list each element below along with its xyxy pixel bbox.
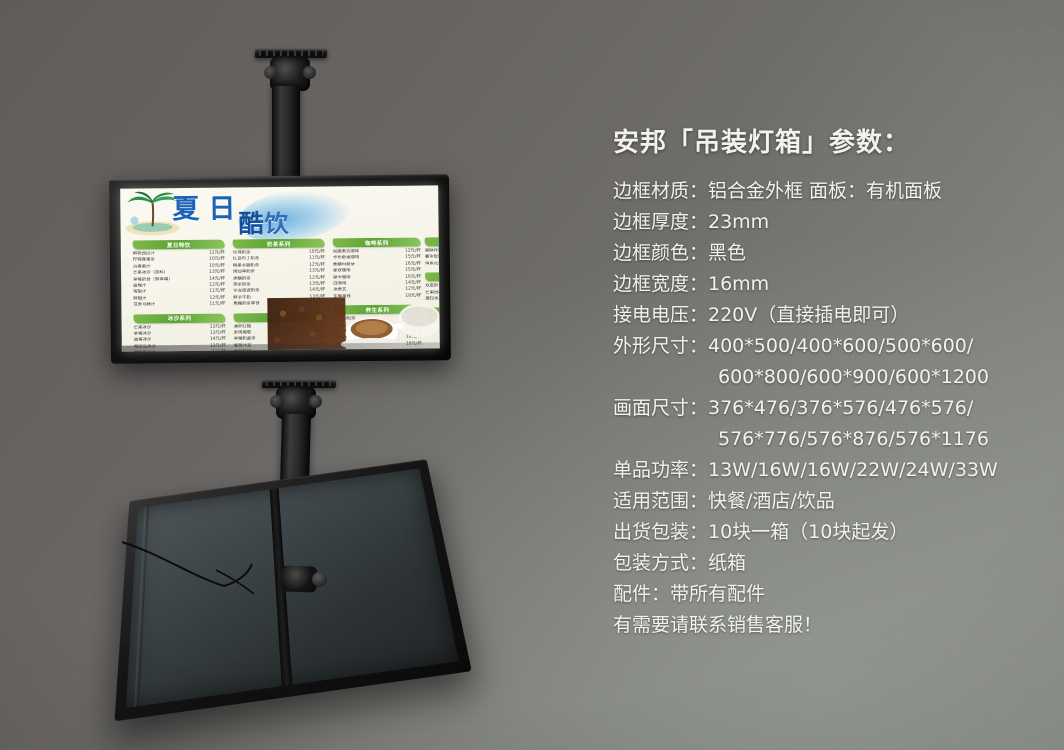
spec-line: 配件：带所有配件: [613, 579, 1053, 610]
ceiling-plate-holes: [259, 51, 323, 56]
screenshot-canvas: 夏 日 酷 饮 夏日特饮鲜榨西瓜汁12元/杯柠檬蜂蜜茶10元/杯百香果汁10元/…: [0, 0, 1064, 750]
menu-item-name: 鸡米花套餐: [425, 261, 440, 268]
poster-title-char-3: 酷: [238, 211, 263, 236]
poster-title: 夏 日 酷 饮: [172, 193, 322, 243]
spec-line: 边框颜色：黑色: [613, 238, 1053, 269]
poster-title-char-4: 饮: [264, 212, 288, 236]
ceiling-plate-holes-lower: [266, 382, 332, 386]
product-photo: 夏 日 酷 饮 夏日特饮鲜榨西瓜汁12元/杯柠檬蜂蜜茶10元/杯百香果汁10元/…: [0, 0, 520, 750]
lightbox-panel: 夏 日 酷 饮 夏日特饮鲜榨西瓜汁12元/杯柠檬蜂蜜茶10元/杯百香果汁10元/…: [120, 185, 440, 351]
spec-title: 安邦「吊装灯箱」参数：: [613, 126, 1053, 160]
spec-line: 600*800/600*900/600*1200: [613, 362, 1053, 393]
menu-item-name: 焦糖奶茶拿铁: [233, 301, 259, 308]
menu-item-name: 甘蔗马蹄汁: [133, 303, 155, 310]
coffee-photo: [267, 290, 440, 350]
poster-title-char-1: 夏: [172, 196, 199, 223]
spec-line: 画面尺寸：376*476/376*576/476*576/: [613, 393, 1053, 424]
menu-section-header: 甜品: [425, 272, 440, 282]
menu-item-price: 11元/杯: [206, 302, 225, 309]
poster-title-char-2: 日: [208, 195, 235, 222]
menu-section: 夏日特饮鲜榨西瓜汁12元/杯柠檬蜂蜜茶10元/杯百香果汁10元/杯芒果冰沙（加料…: [133, 240, 226, 310]
spec-line: 接电电压：220V（直接插电即可）: [613, 300, 1053, 331]
spec-line: 单品功率：13W/16W/16W/22W/24W/33W: [613, 455, 1053, 486]
menu-section-header: 奶茶系列: [233, 239, 325, 249]
menu-section-header: 咖啡系列: [333, 238, 421, 248]
mount-pole-upper: [272, 86, 300, 186]
spec-line: 适用范围：快餐/酒店/饮品: [613, 486, 1053, 517]
menu-section-header: 冰沙系列: [133, 313, 225, 323]
menu-section: 小食系列香酥炸鸡排15元/份薯条配番茄酱10元/份鸡米花套餐13元/份: [425, 237, 440, 268]
coffee-cups-illustration: [267, 290, 440, 350]
spec-panel: 安邦「吊装灯箱」参数： 边框材质：铝合金外框 面板：有机面板边框厚度：23mm边…: [613, 126, 1053, 641]
spec-line: 576*776/576*876/576*1176: [613, 424, 1053, 455]
spec-line: 边框宽度：16mm: [613, 269, 1053, 300]
menu-section-header-label: 咖啡系列: [365, 238, 389, 246]
menu-section-header-label: 奶茶系列: [267, 239, 291, 247]
menu-column: 夏日特饮鲜榨西瓜汁12元/杯柠檬蜂蜜茶10元/杯百香果汁10元/杯芒果冰沙（加料…: [133, 240, 226, 352]
menu-item-row: 鸡米花套餐13元/份: [425, 260, 440, 267]
spec-line-list: 边框材质：铝合金外框 面板：有机面板边框厚度：23mm边框颜色：黑色边框宽度：1…: [613, 176, 1053, 641]
mount-clamp-knob: [312, 572, 327, 587]
spec-line: 包装方式：纸箱: [613, 548, 1053, 579]
spec-line: 边框材质：铝合金外框 面板：有机面板: [613, 176, 1053, 207]
menu-item-row: 甘蔗马蹄汁11元/杯: [133, 302, 225, 309]
menu-section-header: 小食系列: [425, 237, 440, 247]
spec-line: 出货包装：10块一箱（10块起发）: [613, 517, 1053, 548]
menu-section-header-label: 夏日特饮: [167, 240, 191, 248]
spec-line: 外形尺寸：400*500/400*600/500*600/: [613, 331, 1053, 362]
menu-section-header: 夏日特饮: [133, 240, 225, 250]
spec-line: 有需要请联系销售客服！: [613, 610, 1053, 641]
lightbox-illuminated: 夏 日 酷 饮 夏日特饮鲜榨西瓜汁12元/杯柠檬蜂蜜茶10元/杯百香果汁10元/…: [109, 174, 451, 364]
spec-line: 边框厚度：23mm: [613, 207, 1053, 238]
menu-section-header-label: 冰沙系列: [168, 314, 192, 322]
